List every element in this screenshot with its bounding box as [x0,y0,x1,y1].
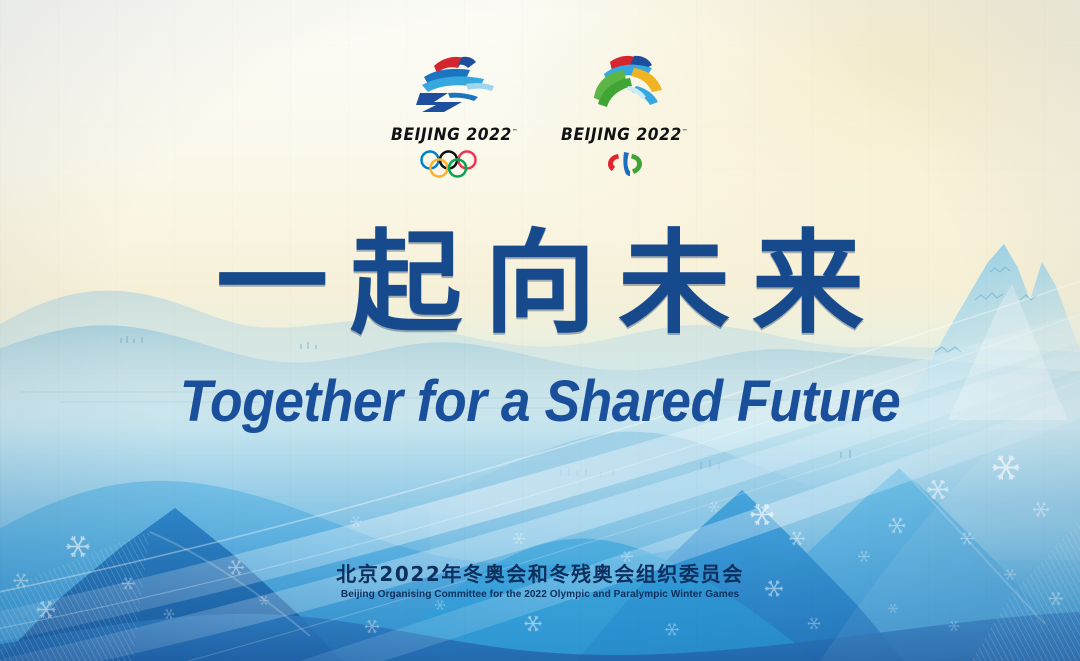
beijing-2022-slogan-poster: BEIJING 2022™ [0,0,1080,661]
paper-texture-horizontal [0,0,1080,661]
